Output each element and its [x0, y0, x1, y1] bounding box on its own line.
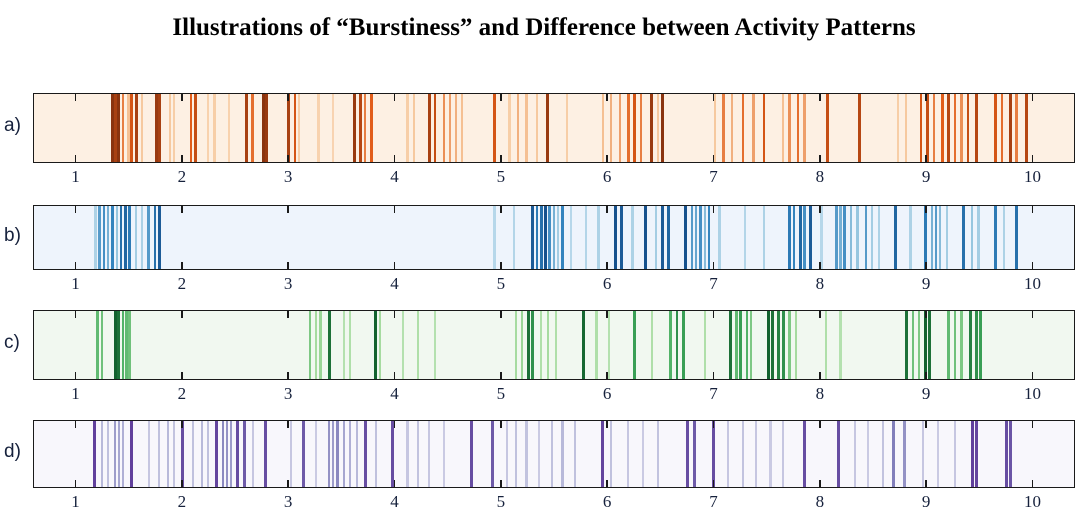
axis-tick-label: 5: [497, 384, 506, 404]
axis-labels-d: 12345678910: [33, 492, 1075, 514]
axis-tick: [1032, 310, 1034, 318]
axis-tick: [75, 420, 77, 428]
axis-tick-label: 10: [1024, 167, 1041, 187]
axis-tick-label: 7: [709, 167, 718, 187]
axis-tick: [606, 372, 608, 380]
axis-tick: [181, 262, 183, 270]
axis-tick: [925, 205, 927, 213]
axis-tick-label: 7: [709, 492, 718, 512]
axis-tick: [500, 205, 502, 213]
axis-tick: [500, 480, 502, 488]
axis-tick: [606, 310, 608, 318]
axis-tick: [394, 155, 396, 163]
axis-tick-label: 6: [603, 492, 612, 512]
axis-tick-label: 4: [390, 274, 399, 294]
panel-block-a: a) 12345678910: [0, 93, 1088, 165]
axis-tick: [75, 205, 77, 213]
axis-tick-label: 7: [709, 384, 718, 404]
axis-tick-label: 5: [497, 167, 506, 187]
axis-tick-label: 8: [816, 384, 825, 404]
axis-tick-label: 4: [390, 384, 399, 404]
axis-tick: [500, 420, 502, 428]
axis-tick-label: 6: [603, 274, 612, 294]
axis-tick: [394, 205, 396, 213]
axis-tick: [1032, 205, 1034, 213]
panel-block-c: c) 12345678910: [0, 310, 1088, 382]
axis-tick: [394, 93, 396, 101]
tick-marks-c: [0, 310, 1088, 380]
axis-tick: [819, 262, 821, 270]
axis-tick: [500, 93, 502, 101]
axis-tick: [925, 420, 927, 428]
panel-block-b: b) 12345678910: [0, 205, 1088, 272]
figure-title: Illustrations of “Burstiness” and Differ…: [0, 14, 1088, 42]
axis-tick-label: 6: [603, 384, 612, 404]
axis-tick: [287, 420, 289, 428]
axis-tick: [819, 93, 821, 101]
axis-tick: [500, 155, 502, 163]
axis-tick: [925, 480, 927, 488]
axis-tick-label: 1: [71, 492, 80, 512]
axis-tick: [713, 480, 715, 488]
axis-tick: [1032, 262, 1034, 270]
axis-tick: [606, 420, 608, 428]
axis-tick-label: 1: [71, 384, 80, 404]
axis-tick: [75, 155, 77, 163]
axis-tick-label: 3: [284, 274, 293, 294]
axis-tick: [1032, 372, 1034, 380]
axis-tick: [713, 155, 715, 163]
tick-marks-a: [0, 93, 1088, 163]
axis-tick: [1032, 155, 1034, 163]
axis-tick: [1032, 420, 1034, 428]
axis-tick: [287, 372, 289, 380]
axis-tick: [713, 310, 715, 318]
axis-tick: [606, 480, 608, 488]
axis-tick-label: 4: [390, 167, 399, 187]
axis-tick: [925, 310, 927, 318]
axis-tick-label: 2: [178, 384, 187, 404]
axis-tick: [713, 93, 715, 101]
axis-tick: [287, 155, 289, 163]
axis-tick-label: 6: [603, 167, 612, 187]
axis-tick-label: 4: [390, 492, 399, 512]
axis-tick: [925, 155, 927, 163]
tick-marks-b: [0, 205, 1088, 270]
axis-tick: [75, 93, 77, 101]
axis-tick: [181, 480, 183, 488]
axis-tick: [287, 93, 289, 101]
axis-tick-label: 5: [497, 274, 506, 294]
axis-tick: [819, 372, 821, 380]
axis-tick: [1032, 480, 1034, 488]
axis-tick: [394, 372, 396, 380]
axis-tick: [819, 205, 821, 213]
axis-tick-label: 10: [1024, 384, 1041, 404]
axis-tick: [287, 480, 289, 488]
tick-marks-d: [0, 420, 1088, 488]
axis-labels-b: 12345678910: [33, 274, 1075, 296]
axis-tick: [1032, 93, 1034, 101]
axis-tick: [606, 205, 608, 213]
axis-tick: [181, 420, 183, 428]
axis-tick-label: 8: [816, 167, 825, 187]
axis-labels-a: 12345678910: [33, 167, 1075, 189]
axis-tick-label: 3: [284, 492, 293, 512]
axis-tick-label: 2: [178, 167, 187, 187]
axis-tick: [819, 310, 821, 318]
axis-tick: [606, 155, 608, 163]
axis-tick: [606, 93, 608, 101]
axis-tick-label: 9: [922, 384, 931, 404]
axis-tick: [75, 310, 77, 318]
axis-tick-label: 9: [922, 492, 931, 512]
axis-tick: [606, 262, 608, 270]
axis-tick-label: 10: [1024, 492, 1041, 512]
axis-tick: [287, 262, 289, 270]
axis-tick-label: 9: [922, 167, 931, 187]
axis-tick-label: 2: [178, 492, 187, 512]
axis-tick: [925, 262, 927, 270]
axis-tick: [394, 262, 396, 270]
axis-tick: [75, 480, 77, 488]
figure-root: Illustrations of “Burstiness” and Differ…: [0, 0, 1088, 519]
axis-tick-label: 8: [816, 492, 825, 512]
axis-tick: [394, 420, 396, 428]
axis-tick: [75, 262, 77, 270]
axis-tick: [925, 93, 927, 101]
axis-tick: [394, 310, 396, 318]
panel-block-d: d) 12345678910: [0, 420, 1088, 490]
axis-tick: [713, 262, 715, 270]
axis-tick-label: 5: [497, 492, 506, 512]
axis-tick-label: 8: [816, 274, 825, 294]
axis-tick: [819, 480, 821, 488]
axis-tick-label: 9: [922, 274, 931, 294]
axis-tick-label: 1: [71, 167, 80, 187]
axis-tick: [500, 310, 502, 318]
axis-tick: [713, 205, 715, 213]
axis-tick-label: 1: [71, 274, 80, 294]
axis-tick: [181, 310, 183, 318]
axis-tick: [394, 480, 396, 488]
axis-tick: [181, 205, 183, 213]
axis-tick: [287, 205, 289, 213]
axis-tick: [181, 93, 183, 101]
axis-tick-label: 3: [284, 167, 293, 187]
axis-tick-label: 3: [284, 384, 293, 404]
axis-tick: [713, 420, 715, 428]
axis-tick: [500, 372, 502, 380]
axis-tick: [713, 372, 715, 380]
axis-tick: [500, 262, 502, 270]
axis-tick: [287, 310, 289, 318]
axis-tick: [75, 372, 77, 380]
axis-tick: [181, 372, 183, 380]
axis-tick: [819, 420, 821, 428]
axis-tick-label: 10: [1024, 274, 1041, 294]
axis-labels-c: 12345678910: [33, 384, 1075, 406]
axis-tick-label: 2: [178, 274, 187, 294]
axis-tick-label: 7: [709, 274, 718, 294]
axis-tick: [181, 155, 183, 163]
axis-tick: [925, 372, 927, 380]
axis-tick: [819, 155, 821, 163]
